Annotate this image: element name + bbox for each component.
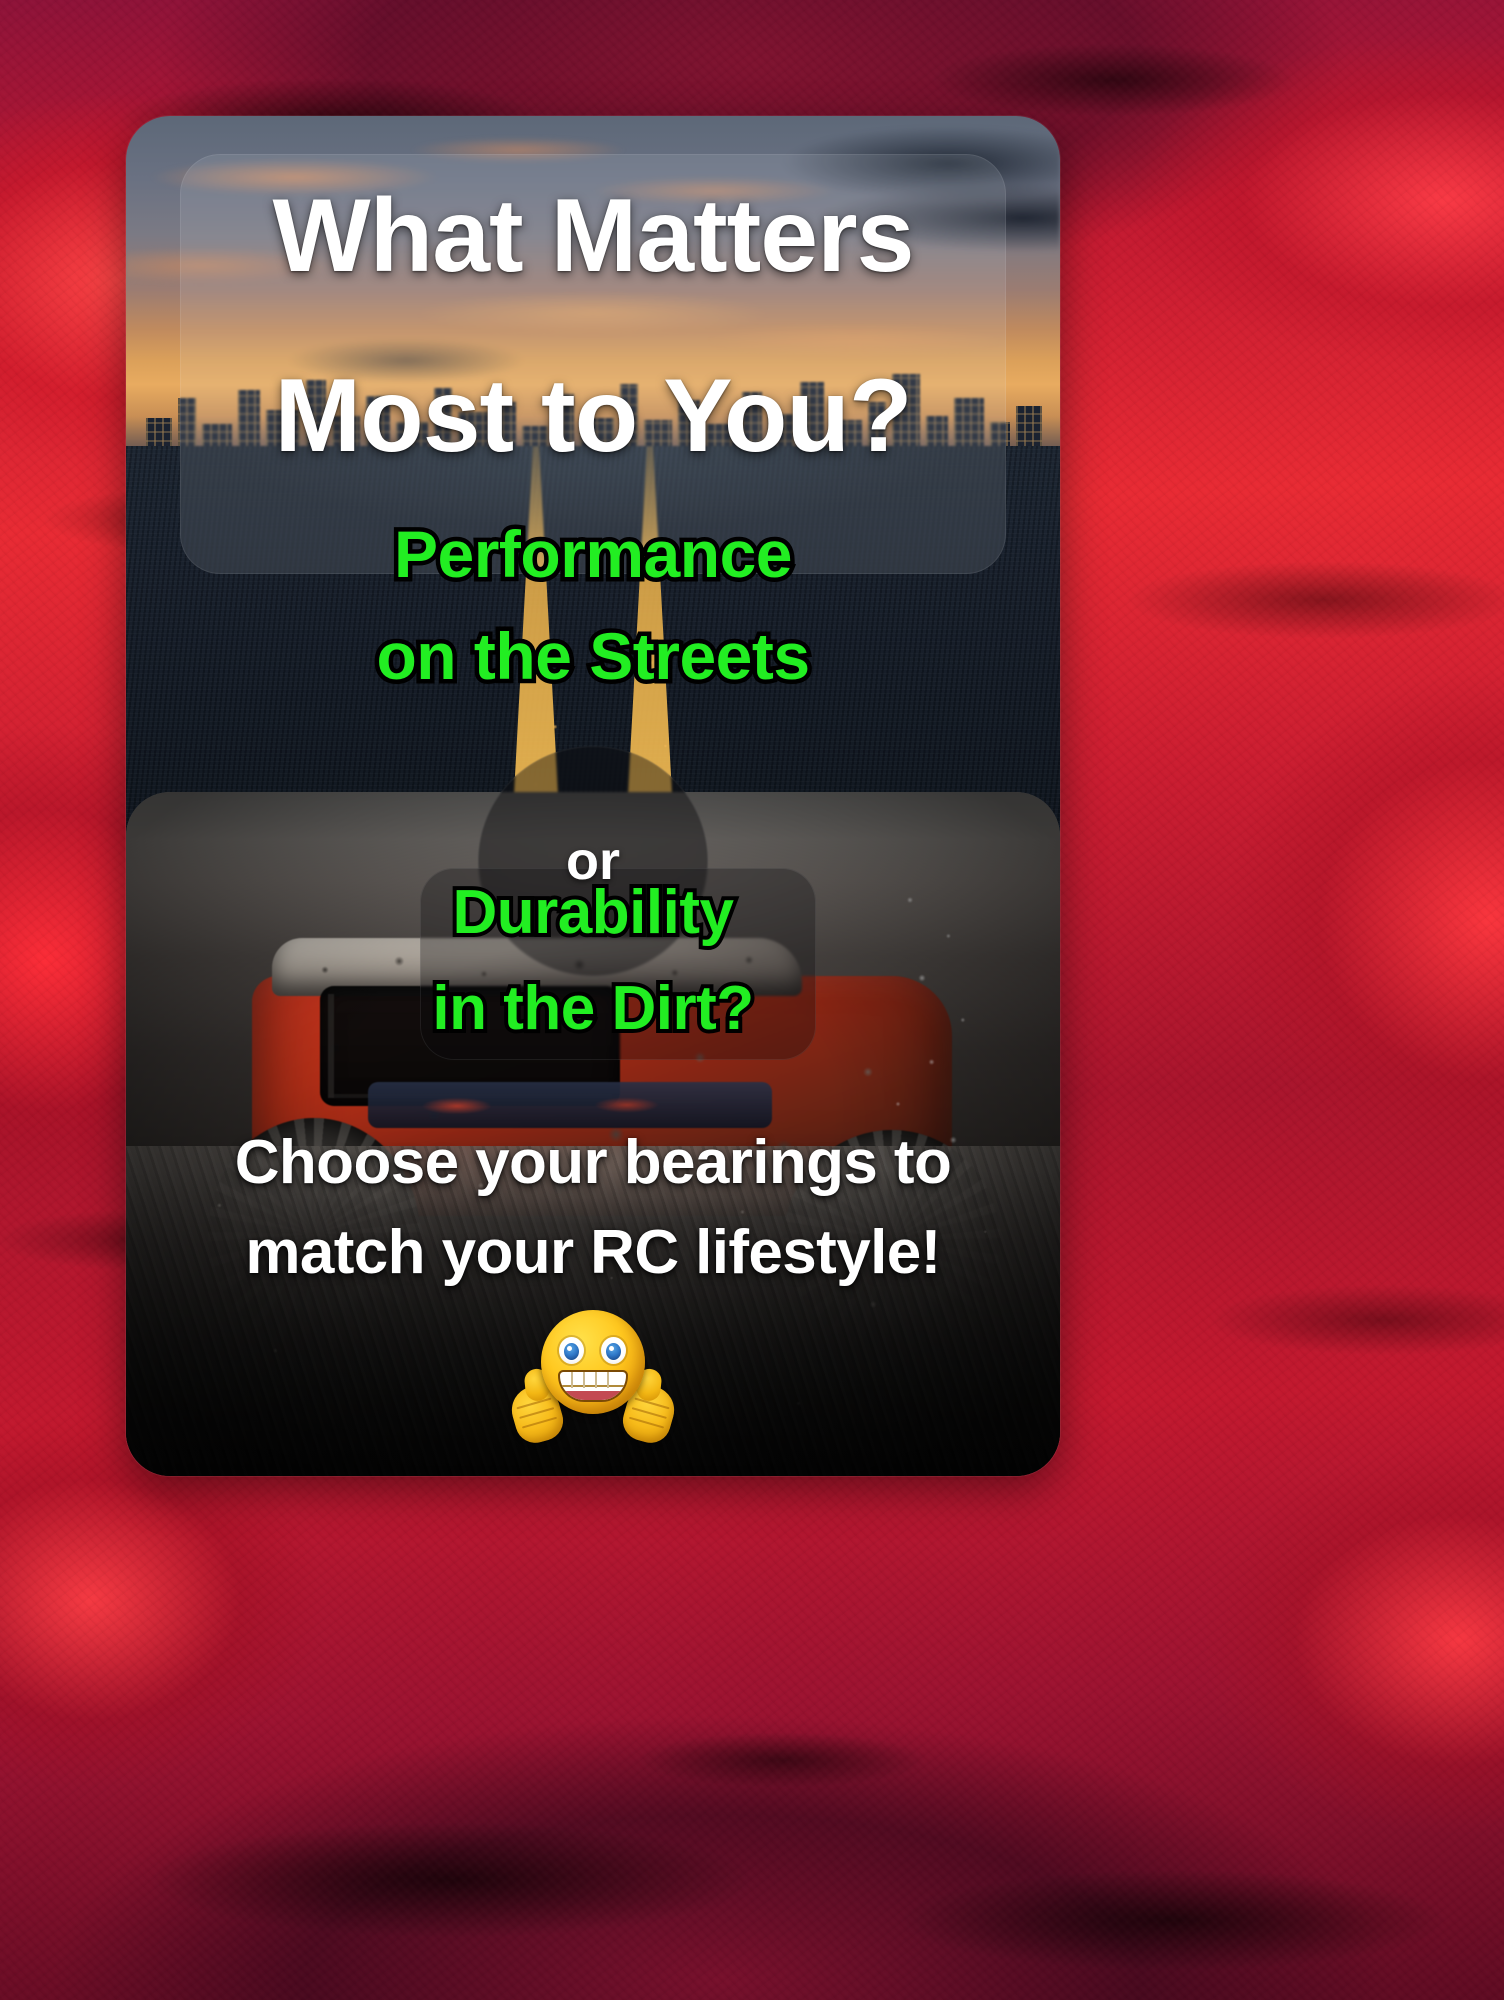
emoji-face: [541, 1310, 645, 1414]
poster-background: What Matters Most to You? Performance on…: [0, 0, 1504, 2000]
headline-line-2: Most to You?: [126, 364, 1060, 468]
emoji-eye-right: [601, 1337, 626, 1364]
option-a-line-2: on the Streets: [126, 622, 1060, 691]
content-card: What Matters Most to You? Performance on…: [126, 116, 1060, 1476]
option-a-line-1: Performance: [126, 520, 1060, 589]
emoji-eye-left: [559, 1337, 584, 1364]
cta-line-2: match your RC lifestyle!: [126, 1220, 1060, 1286]
option-b-line-1: Durability: [126, 880, 1060, 946]
truck-light-bar: [368, 1082, 772, 1128]
cta-line-1: Choose your bearings to: [126, 1130, 1060, 1196]
thumbs-up-grinning-emoji-icon: [513, 1310, 673, 1460]
headline-line-1: What Matters: [126, 184, 1060, 288]
option-b-line-2: in the Dirt?: [126, 976, 1060, 1042]
emoji-grin-mouth: [558, 1370, 628, 1402]
